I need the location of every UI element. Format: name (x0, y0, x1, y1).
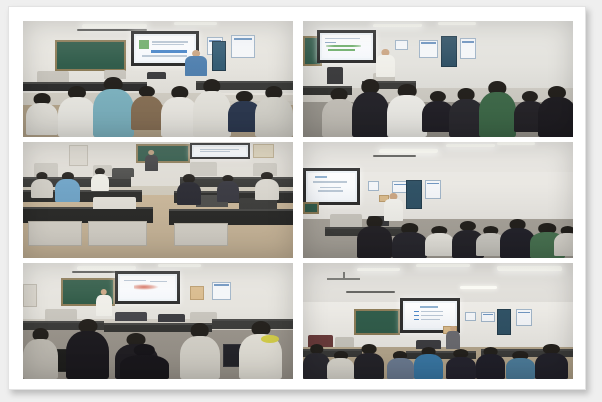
photo-6[interactable] (303, 263, 573, 379)
photo-4[interactable] (303, 142, 573, 258)
photo-5[interactable] (23, 263, 293, 379)
collage-page (0, 0, 602, 402)
photo-3[interactable] (23, 142, 293, 258)
photo-collage-card (8, 6, 586, 390)
photo-2[interactable] (303, 21, 573, 137)
photo-grid (23, 21, 573, 379)
photo-1[interactable] (23, 21, 293, 137)
